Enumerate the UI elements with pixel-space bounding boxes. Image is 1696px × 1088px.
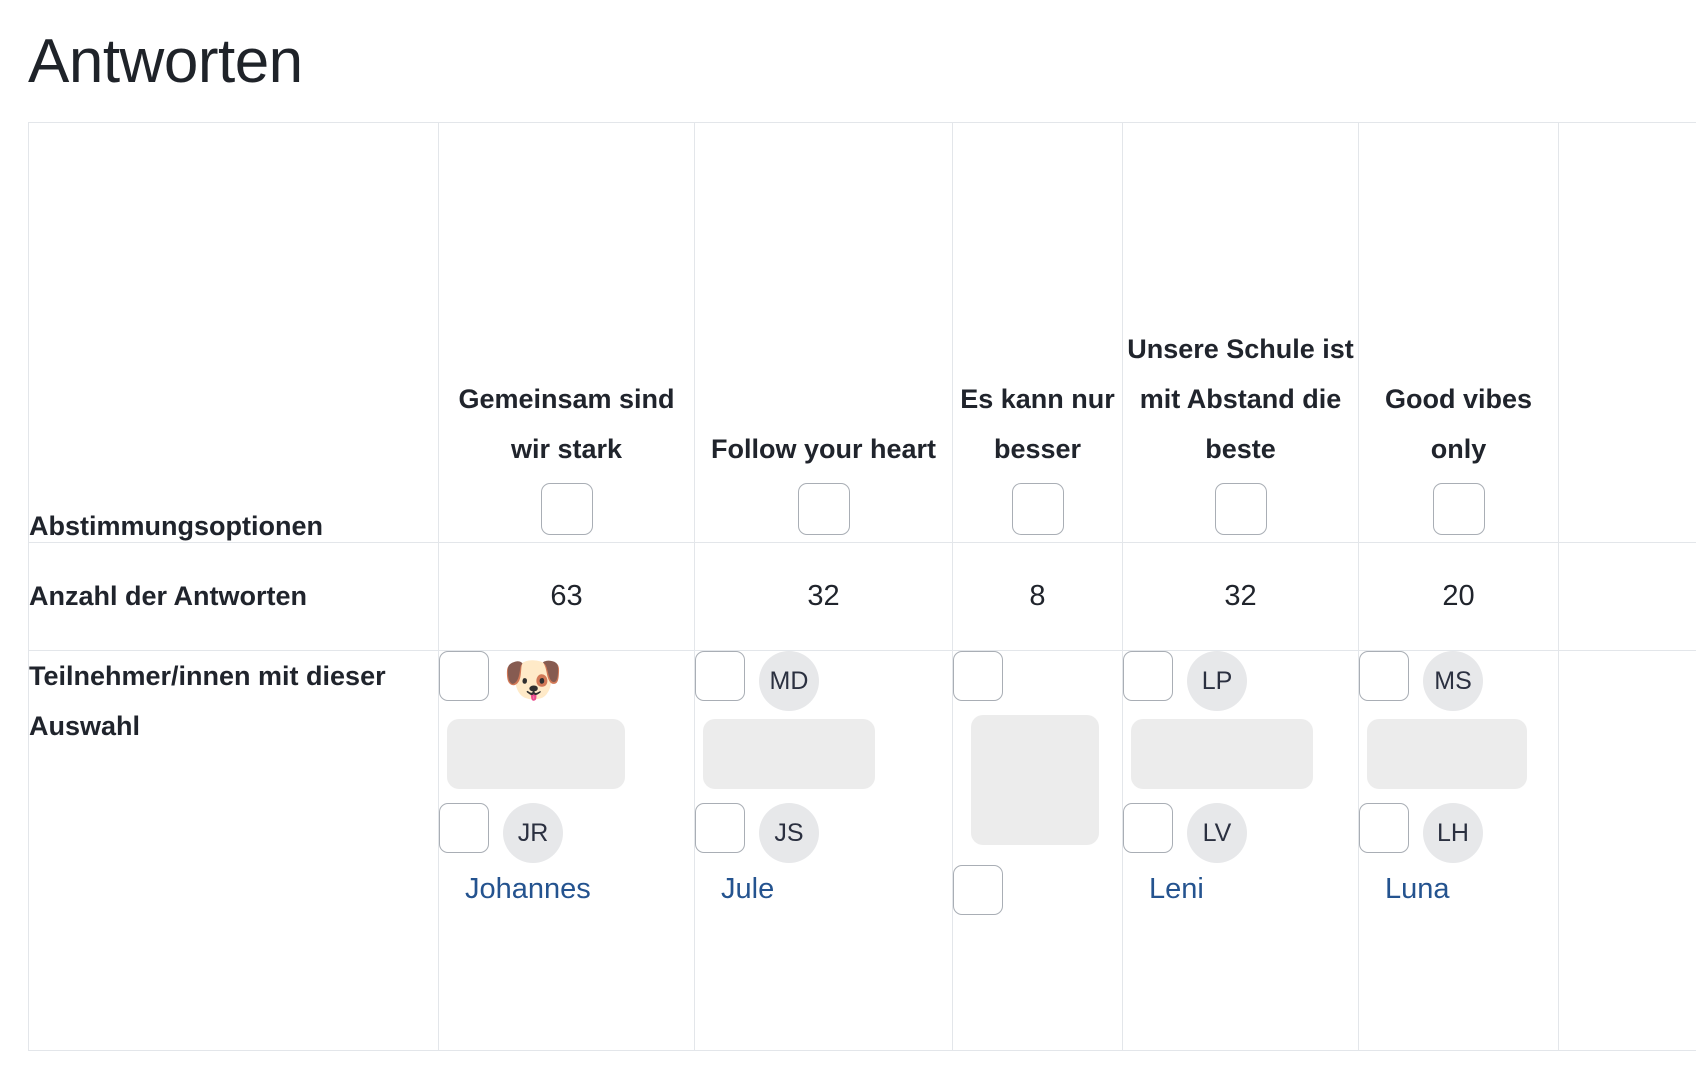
participant-checkbox[interactable]	[1359, 803, 1409, 853]
participant-checkbox[interactable]	[439, 803, 489, 853]
avatar: JR	[503, 803, 563, 863]
avatar: LP	[1187, 651, 1247, 711]
answer-count-follow-your-heart: 32	[695, 543, 953, 651]
participant-entry[interactable]: JS	[695, 803, 952, 863]
participant-checkbox[interactable]	[1123, 651, 1173, 701]
row-label-options: Abstimmungsoptionen	[29, 123, 439, 543]
avatar: MD	[759, 651, 819, 711]
participant-checkbox[interactable]	[439, 651, 489, 701]
row-label-participants: Teilnehmer/innen mit dieser Auswahl	[29, 651, 439, 1051]
poll-results-table: Abstimmungsoptionen Gemeinsam sind wir s…	[28, 122, 1696, 1051]
participants-cell-good-vibes-only: MS LH Luna	[1359, 651, 1559, 1051]
participants-cell-gemeinsam: 🐶 JR Johannes	[439, 651, 695, 1051]
row-label-answer-count: Anzahl der Antworten	[29, 543, 439, 651]
participant-name[interactable]: Jule	[695, 873, 952, 906]
name-placeholder-bar	[703, 719, 875, 789]
participant-entry[interactable]: LH	[1359, 803, 1558, 863]
name-placeholder-bar	[447, 719, 625, 789]
participant-checkbox[interactable]	[1123, 803, 1173, 853]
answer-count-es-kann-nur-besser: 8	[953, 543, 1123, 651]
table-row-options: Abstimmungsoptionen Gemeinsam sind wir s…	[29, 123, 1696, 543]
option-checkbox-unsere-schule[interactable]	[1215, 483, 1267, 535]
page-title: Antworten	[0, 0, 1696, 96]
participant-entry[interactable]: MD	[695, 651, 952, 711]
column-header-gemeinsam: Gemeinsam sind wir stark	[439, 123, 695, 543]
answer-count-overflow	[1559, 543, 1696, 651]
participant-entry[interactable]: LV	[1123, 803, 1358, 863]
column-header-unsere-schule: Unsere Schule ist mit Abstand die beste	[1123, 123, 1359, 543]
name-placeholder-bar	[1131, 719, 1313, 789]
table-row-answer-count: Anzahl der Antworten 63 32 8 32 20	[29, 543, 1696, 651]
participant-entry[interactable]: MS	[1359, 651, 1558, 711]
option-label: Unsere Schule ist mit Abstand die beste	[1123, 324, 1358, 474]
column-header-follow-your-heart: Follow your heart	[695, 123, 953, 543]
results-table-wrapper: Abstimmungsoptionen Gemeinsam sind wir s…	[0, 122, 1696, 1051]
participant-entry[interactable]: JR	[439, 803, 694, 863]
participant-name[interactable]: Luna	[1359, 873, 1558, 906]
option-checkbox-good-vibes-only[interactable]	[1433, 483, 1485, 535]
participant-checkbox[interactable]	[695, 651, 745, 701]
name-placeholder-bar	[971, 715, 1099, 845]
participant-entry[interactable]: LP	[1123, 651, 1358, 711]
option-checkbox-gemeinsam[interactable]	[541, 483, 593, 535]
participant-checkbox[interactable]	[953, 865, 1003, 915]
option-label: Good vibes only	[1359, 374, 1558, 474]
answer-count-gemeinsam: 63	[439, 543, 695, 651]
avatar: JS	[759, 803, 819, 863]
participant-checkbox[interactable]	[953, 651, 1003, 701]
participant-entry[interactable]	[953, 651, 1122, 707]
participants-cell-es-kann-nur-besser	[953, 651, 1123, 1051]
participants-cell-unsere-schule: LP LV Leni	[1123, 651, 1359, 1051]
option-label: Gemeinsam sind wir stark	[439, 374, 694, 474]
column-header-good-vibes-only: Good vibes only	[1359, 123, 1559, 543]
option-label: Es kann nur besser	[953, 374, 1122, 474]
participant-entry[interactable]	[953, 865, 1122, 921]
dog-emoji-avatar: 🐶	[503, 651, 563, 711]
column-header-overflow	[1559, 123, 1696, 543]
name-placeholder-bar	[1367, 719, 1527, 789]
avatar: MS	[1423, 651, 1483, 711]
avatar: LH	[1423, 803, 1483, 863]
column-header-es-kann-nur-besser: Es kann nur besser	[953, 123, 1123, 543]
answer-count-unsere-schule: 32	[1123, 543, 1359, 651]
participant-name[interactable]: Johannes	[439, 873, 694, 906]
participant-name[interactable]: Leni	[1123, 873, 1358, 906]
option-label: Follow your heart	[695, 424, 952, 474]
option-checkbox-es-kann-nur-besser[interactable]	[1012, 483, 1064, 535]
option-checkbox-follow-your-heart[interactable]	[798, 483, 850, 535]
table-row-participants: Teilnehmer/innen mit dieser Auswahl 🐶 JR	[29, 651, 1696, 1051]
avatar: LV	[1187, 803, 1247, 863]
answers-page: Antworten Abstimmungsoptionen Gemeinsam …	[0, 0, 1696, 1088]
participants-cell-overflow	[1559, 651, 1696, 1051]
participants-cell-follow-your-heart: MD JS Jule	[695, 651, 953, 1051]
participant-checkbox[interactable]	[695, 803, 745, 853]
participant-checkbox[interactable]	[1359, 651, 1409, 701]
participant-entry[interactable]: 🐶	[439, 651, 694, 711]
answer-count-good-vibes-only: 20	[1359, 543, 1559, 651]
